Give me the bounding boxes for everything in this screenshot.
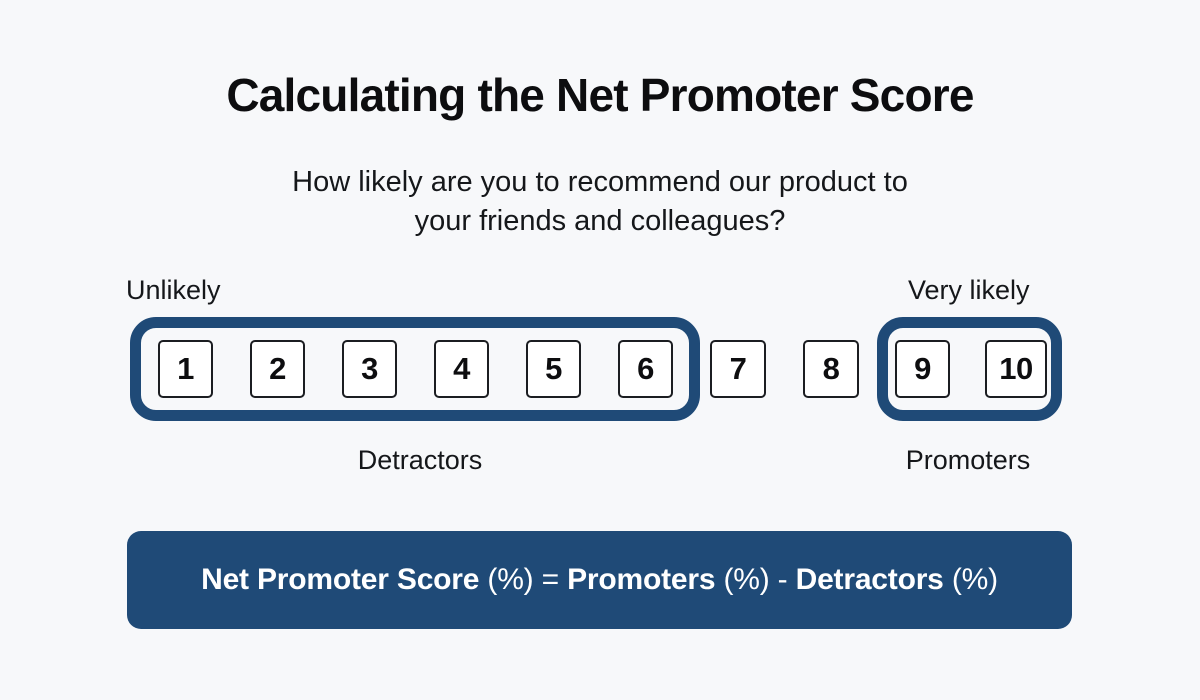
survey-question: How likely are you to recommend our prod…: [0, 163, 1200, 240]
rating-option-2[interactable]: 2: [250, 340, 305, 398]
detractors-group-outline: [130, 317, 700, 421]
rating-option-6[interactable]: 6: [618, 340, 673, 398]
infographic-canvas: Calculating the Net Promoter Score How l…: [0, 0, 1200, 700]
rating-scale: 12345678910: [0, 312, 1200, 427]
rating-option-7[interactable]: 7: [710, 340, 766, 398]
nps-formula-text: Net Promoter Score (%) = Promoters (%) -…: [201, 565, 998, 595]
survey-question-line-1: How likely are you to recommend our prod…: [0, 163, 1200, 202]
promoters-caption: Promoters: [818, 445, 1118, 476]
nps-formula-bar: Net Promoter Score (%) = Promoters (%) -…: [127, 531, 1072, 629]
rating-option-9[interactable]: 9: [895, 340, 950, 398]
formula-term-detractors: Detractors: [796, 563, 944, 596]
rating-option-4[interactable]: 4: [434, 340, 489, 398]
formula-operator-equals: =: [542, 563, 559, 596]
detractors-caption: Detractors: [270, 445, 570, 476]
formula-operator-minus: -: [778, 563, 788, 596]
rating-option-3[interactable]: 3: [342, 340, 397, 398]
formula-term-nps: Net Promoter Score: [201, 563, 479, 596]
formula-unit-nps: (%): [487, 563, 533, 596]
rating-option-8[interactable]: 8: [803, 340, 859, 398]
survey-question-line-2: your friends and colleagues?: [0, 202, 1200, 241]
formula-unit-detractors: (%): [952, 563, 998, 596]
rating-option-5[interactable]: 5: [526, 340, 581, 398]
formula-term-promoters: Promoters: [567, 563, 715, 596]
page-title: Calculating the Net Promoter Score: [0, 70, 1200, 121]
scale-endpoint-low-label: Unlikely: [126, 274, 221, 306]
formula-unit-promoters: (%): [723, 563, 769, 596]
scale-endpoint-high-label: Very likely: [908, 274, 1030, 306]
rating-option-10[interactable]: 10: [985, 340, 1047, 398]
rating-option-1[interactable]: 1: [158, 340, 213, 398]
